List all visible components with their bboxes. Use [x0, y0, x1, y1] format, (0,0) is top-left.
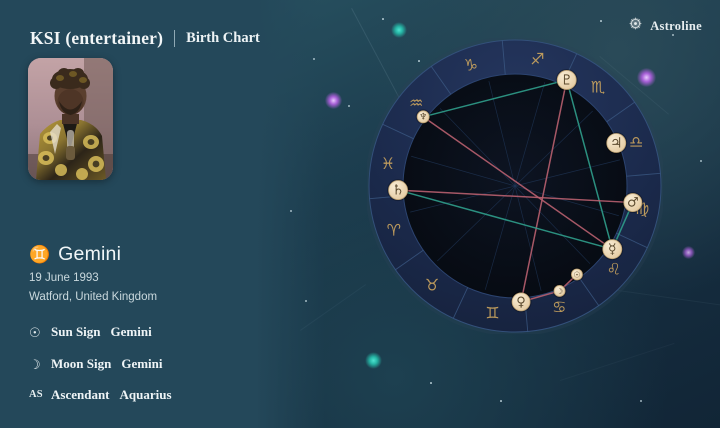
- planet-token-saturn[interactable]: ♄: [387, 179, 409, 201]
- star-dot: [640, 400, 642, 402]
- planet-glyph-mercury: ☿: [608, 242, 617, 258]
- planet-glyph-sun: ☉: [573, 270, 580, 279]
- star-dot: [348, 105, 350, 107]
- natal-chart-wheel[interactable]: ♈♉♊♋♌♍♎♏♐♑♒♓♇♃♂☿☉☽♀♄♆: [367, 38, 663, 334]
- planet-token-jupiter[interactable]: ♃: [605, 132, 627, 154]
- brand-logo[interactable]: Astroline: [628, 16, 702, 36]
- fact-label: Ascendant: [51, 387, 110, 403]
- avatar: [28, 58, 113, 180]
- fact-sun-sign: ☉ Sun Sign Gemini: [29, 324, 152, 340]
- zodiac-sign-gemini: ♊: [485, 304, 499, 323]
- fact-value: Gemini: [121, 356, 162, 372]
- zodiac-sign-scorpio: ♏: [591, 78, 605, 97]
- page-header: KSI (entertainer) Birth Chart: [30, 28, 260, 49]
- page-title: Birth Chart: [186, 30, 260, 47]
- planet-glyph-mars: ♂: [627, 196, 639, 211]
- star-glow-teal: [365, 352, 382, 369]
- birth-place: Watford, United Kingdom: [29, 291, 157, 303]
- planet-glyph-jupiter: ♃: [610, 136, 623, 152]
- star-dot: [600, 20, 602, 22]
- zodiac-sign-sagittarius: ♐: [530, 49, 544, 68]
- brand-name: Astroline: [650, 19, 702, 34]
- gemini-icon: ♊: [29, 246, 50, 263]
- sun-icon: ☉: [29, 326, 44, 339]
- star-dot: [382, 18, 384, 20]
- zodiac-sign-pisces: ♓: [381, 154, 395, 173]
- planet-glyph-moon: ☽: [556, 287, 563, 296]
- zodiac-sign-cancer: ♋: [552, 298, 566, 317]
- planet-token-mercury[interactable]: ☿: [601, 238, 623, 260]
- planet-glyph-saturn: ♄: [392, 183, 405, 199]
- moon-icon: ☽: [29, 358, 44, 371]
- sun-rosette-icon: [628, 16, 643, 36]
- star-dot: [305, 300, 307, 302]
- star-dot: [313, 58, 315, 60]
- sign-name: Gemini: [58, 243, 121, 266]
- birth-chart-screen: KSI (entertainer) Birth Chart: [0, 0, 720, 428]
- planet-token-mars[interactable]: ♂: [622, 192, 643, 213]
- fact-value: Aquarius: [120, 387, 172, 403]
- planet-glyph-venus: ♀: [516, 295, 526, 310]
- fact-ascendant: AS Ascendant Aquarius: [29, 387, 172, 403]
- sun-sign-heading: ♊ Gemini: [29, 243, 121, 266]
- birth-date: 19 June 1993: [29, 272, 99, 284]
- star-glow-teal: [391, 22, 407, 38]
- planet-token-moon[interactable]: ☽: [553, 284, 567, 298]
- fact-label: Sun Sign: [51, 324, 101, 340]
- planet-glyph-neptune: ♆: [419, 112, 427, 122]
- star-dot: [700, 160, 702, 162]
- zodiac-sign-leo: ♌: [607, 259, 621, 278]
- zodiac-sign-aries: ♈: [387, 221, 401, 240]
- star-dot: [430, 382, 432, 384]
- zodiac-sign-libra: ♎: [629, 132, 643, 151]
- star-glow-purple: [682, 246, 695, 259]
- ascendant-icon: AS: [29, 390, 44, 401]
- planet-token-sun[interactable]: ☉: [570, 267, 584, 281]
- star-dot: [500, 400, 502, 402]
- planet-token-venus[interactable]: ♀: [511, 291, 532, 312]
- star-glow-purple: [325, 92, 342, 109]
- planet-token-pluto[interactable]: ♇: [556, 69, 578, 91]
- zodiac-sign-capricorn: ♑: [464, 55, 478, 74]
- zodiac-sign-taurus: ♉: [425, 275, 439, 294]
- fact-label: Moon Sign: [51, 356, 111, 372]
- fact-value: Gemini: [111, 324, 152, 340]
- title-divider: [174, 30, 175, 47]
- person-name: KSI (entertainer): [30, 28, 163, 49]
- planet-glyph-pluto: ♇: [560, 72, 573, 88]
- star-dot: [290, 210, 292, 212]
- fact-moon-sign: ☽ Moon Sign Gemini: [29, 356, 163, 372]
- planet-token-neptune[interactable]: ♆: [416, 109, 431, 124]
